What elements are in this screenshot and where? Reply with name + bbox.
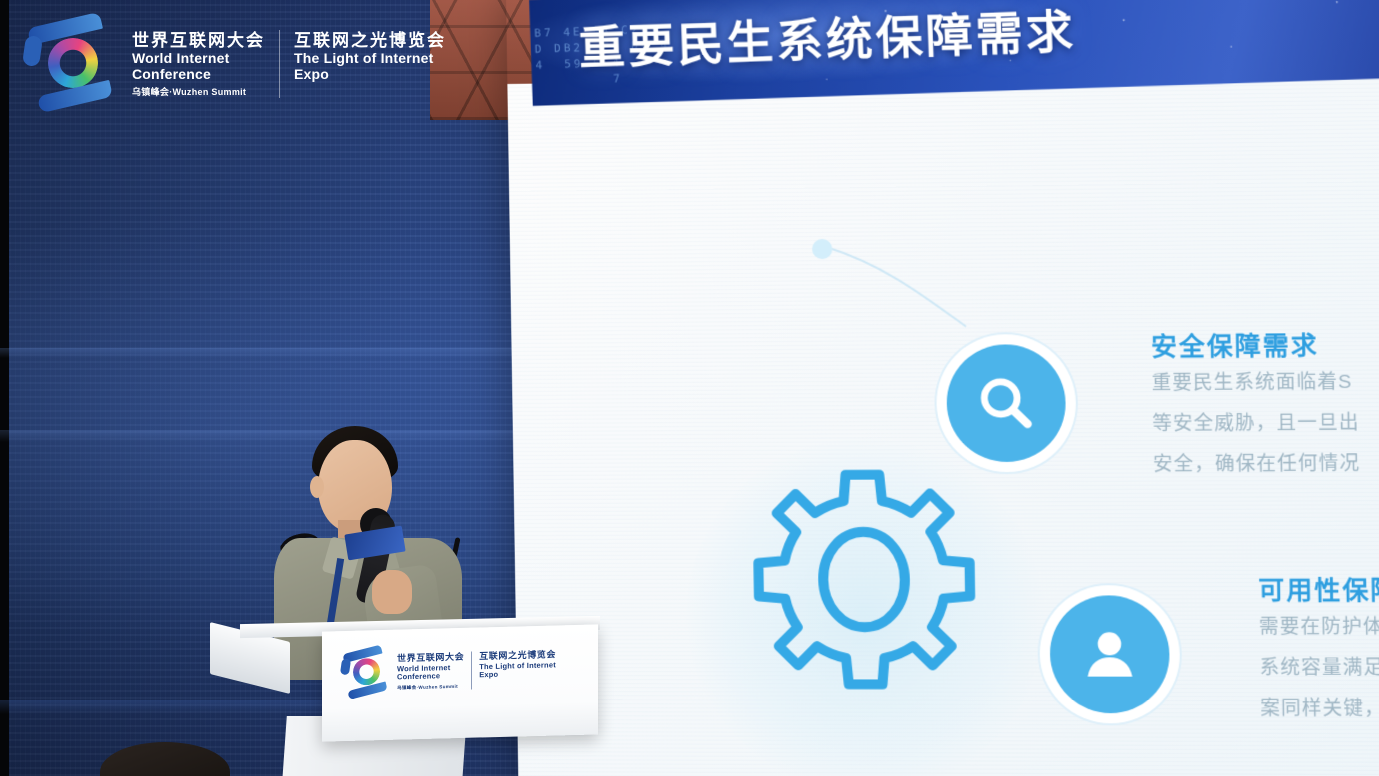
podium: 世界互联网大会 World Internet Conference 乌镇峰会·W… — [196, 620, 596, 776]
backdrop-wic-logo: 世界互联网大会 World Internet Conference 乌镇峰会·W… — [22, 14, 460, 114]
logo-cn-title: 世界互联网大会 — [132, 30, 265, 51]
section-2-line-2: 系统容量满足 — [1259, 648, 1379, 689]
podium-logo-right-block: 互联网之光博览会 The Light of Internet Expo — [471, 650, 563, 689]
search-icon-circle — [946, 344, 1067, 462]
slide-body: 安全保障需求 重要民生系统面临着S 等安全威胁，且一旦出 安全，确保在任何情况 … — [507, 72, 1379, 776]
search-icon — [974, 372, 1038, 435]
section-2-line-3: 案同样关键， — [1260, 689, 1379, 730]
speaker-hand — [372, 570, 412, 614]
conference-stage-photo: 世界互联网大会 World Internet Conference 乌镇峰会·W… — [0, 0, 1379, 776]
logo-right-block: 互联网之光博览会 The Light of Internet Expo — [279, 30, 460, 99]
logo-left-block: 世界互联网大会 World Internet Conference 乌镇峰会·W… — [118, 30, 279, 99]
expo-en-line1: The Light of Internet — [294, 51, 446, 67]
node-dot-icon — [812, 239, 833, 259]
expo-cn-title: 互联网之光博览会 — [294, 30, 446, 51]
podium-logo-en-line2: Conference — [397, 672, 464, 682]
podium-logo-sub-title: 乌镇峰会·Wuzhen Summit — [397, 683, 464, 691]
section-1-line-3: 安全，确保在任何情况 — [1153, 444, 1361, 486]
expo-en-line2: Expo — [294, 67, 446, 83]
podium-expo-en-line2: Expo — [479, 669, 556, 679]
speaker-ear — [310, 476, 324, 498]
section-2-line-1: 需要在防护体 — [1259, 607, 1379, 648]
backdrop-left-edge — [0, 0, 9, 776]
podium-logo-left-block: 世界互联网大会 World Internet Conference 乌镇峰会·W… — [390, 652, 471, 691]
section-1-heading: 安全保障需求 — [1151, 326, 1359, 364]
section-1-line-1: 重要民生系统面临着S — [1151, 362, 1359, 404]
logo-en-line2: Conference — [132, 67, 265, 83]
logo-en-line1: World Internet — [132, 51, 265, 67]
section-2-text: 可用性保障 需要在防护体 系统容量满足 案同样关键， — [1258, 571, 1379, 730]
user-icon — [1077, 623, 1142, 686]
section-1-text: 安全保障需求 重要民生系统面临着S 等安全威胁，且一旦出 安全，确保在任何情况 — [1151, 326, 1361, 486]
section-1-line-2: 等安全威胁，且一旦出 — [1152, 403, 1360, 445]
gear-icon — [742, 460, 986, 699]
wic-s-mark-icon — [340, 646, 390, 701]
wic-s-mark-icon — [22, 14, 118, 114]
podium-wic-logo: 世界互联网大会 World Internet Conference 乌镇峰会·W… — [340, 641, 563, 701]
logo-sub-title: 乌镇峰会·Wuzhen Summit — [132, 85, 265, 98]
user-icon-circle — [1049, 595, 1170, 713]
section-2-heading: 可用性保障 — [1258, 571, 1379, 608]
projection-screen: 安全保障需求 重要民生系统面临着S 等安全威胁，且一旦出 安全，确保在任何情况 … — [506, 0, 1379, 776]
